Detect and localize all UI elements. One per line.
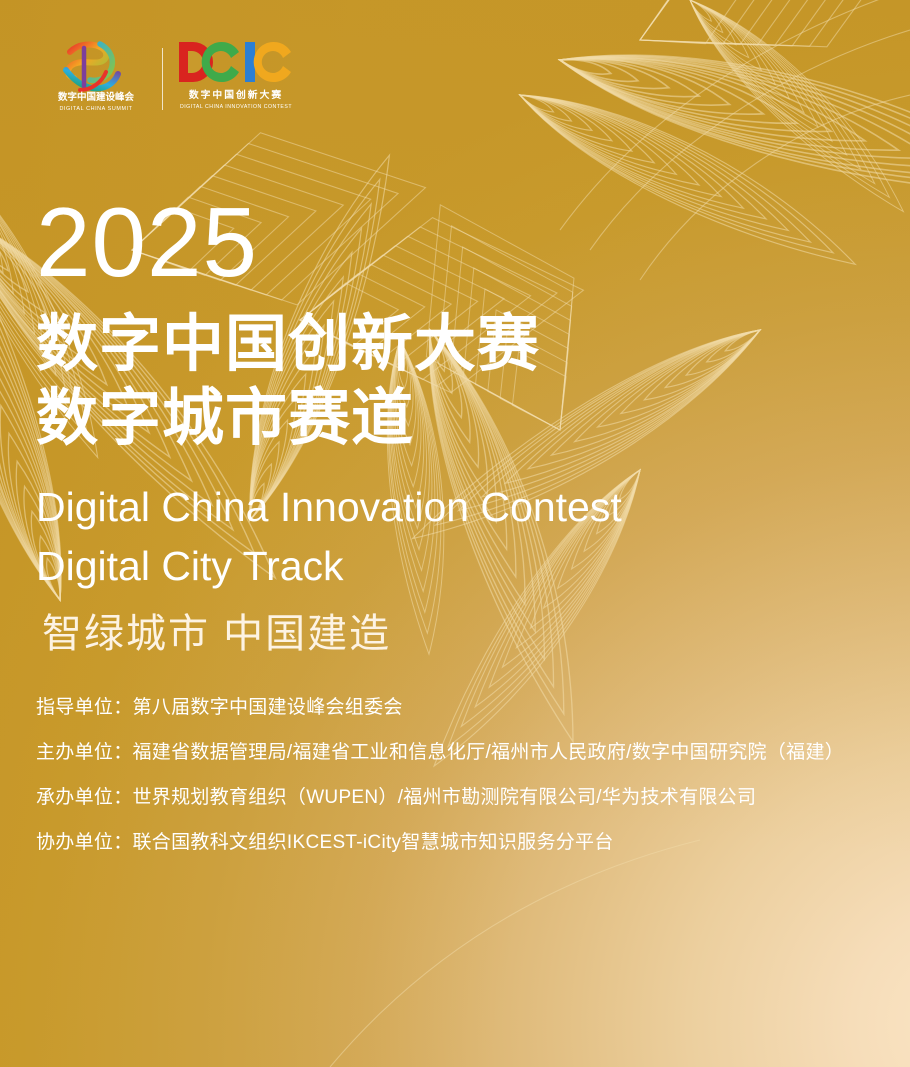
year-heading: 2025 bbox=[36, 193, 258, 291]
dcic-letter-i bbox=[245, 42, 255, 82]
organizer-line-undertaker: 承办单位：世界规划教育组织（WUPEN）/福州市勘测院有限公司/华为技术有限公司 bbox=[36, 788, 910, 807]
summit-logo-cn-text: 数字中国建设峰会 bbox=[57, 91, 135, 103]
header-logo-bar: 数字中国建设峰会 DIGITAL CHINA SUMMIT bbox=[44, 38, 295, 119]
digital-china-summit-logo: 数字中国建设峰会 DIGITAL CHINA SUMMIT bbox=[44, 38, 148, 119]
dcic-letter-c-yellow bbox=[254, 42, 291, 82]
dcic-logo-cn-text: 数字中国创新大赛 bbox=[189, 88, 283, 101]
chinese-title: 数字中国创新大赛 数字城市赛道 bbox=[36, 314, 540, 450]
dcic-logo-en-text: DIGITAL CHINA INNOVATION CONTEST bbox=[180, 104, 292, 110]
logo-divider bbox=[162, 48, 163, 110]
slogan-text: 智绿城市 中国建造 bbox=[42, 614, 391, 654]
organizer-line-host: 主办单位：福建省数据管理局/福建省工业和信息化厅/福州市人民政府/数字中国研究院… bbox=[36, 743, 910, 762]
chinese-title-line2: 数字城市赛道 bbox=[36, 388, 540, 450]
english-title: Digital China Innovation Contest Digital… bbox=[36, 478, 622, 597]
english-title-line1: Digital China Innovation Contest bbox=[36, 484, 622, 530]
poster-canvas: 数字中国建设峰会 DIGITAL CHINA SUMMIT bbox=[0, 0, 910, 1067]
organizer-line-coorganizer: 协办单位：联合国教科文组织IKCEST-iCity智慧城市知识服务分平台 bbox=[36, 833, 910, 852]
organizer-list: 指导单位：第八届数字中国建设峰会组委会 主办单位：福建省数据管理局/福建省工业和… bbox=[36, 698, 910, 878]
english-title-line2: Digital City Track bbox=[36, 537, 622, 596]
summit-logo-en-text: DIGITAL CHINA SUMMIT bbox=[59, 106, 132, 112]
chinese-title-line1: 数字中国创新大赛 bbox=[36, 310, 540, 379]
organizer-line-guidance: 指导单位：第八届数字中国建设峰会组委会 bbox=[36, 698, 910, 717]
dcic-logo: 数字中国创新大赛 DIGITAL CHINA INNOVATION CONTES… bbox=[177, 38, 295, 119]
